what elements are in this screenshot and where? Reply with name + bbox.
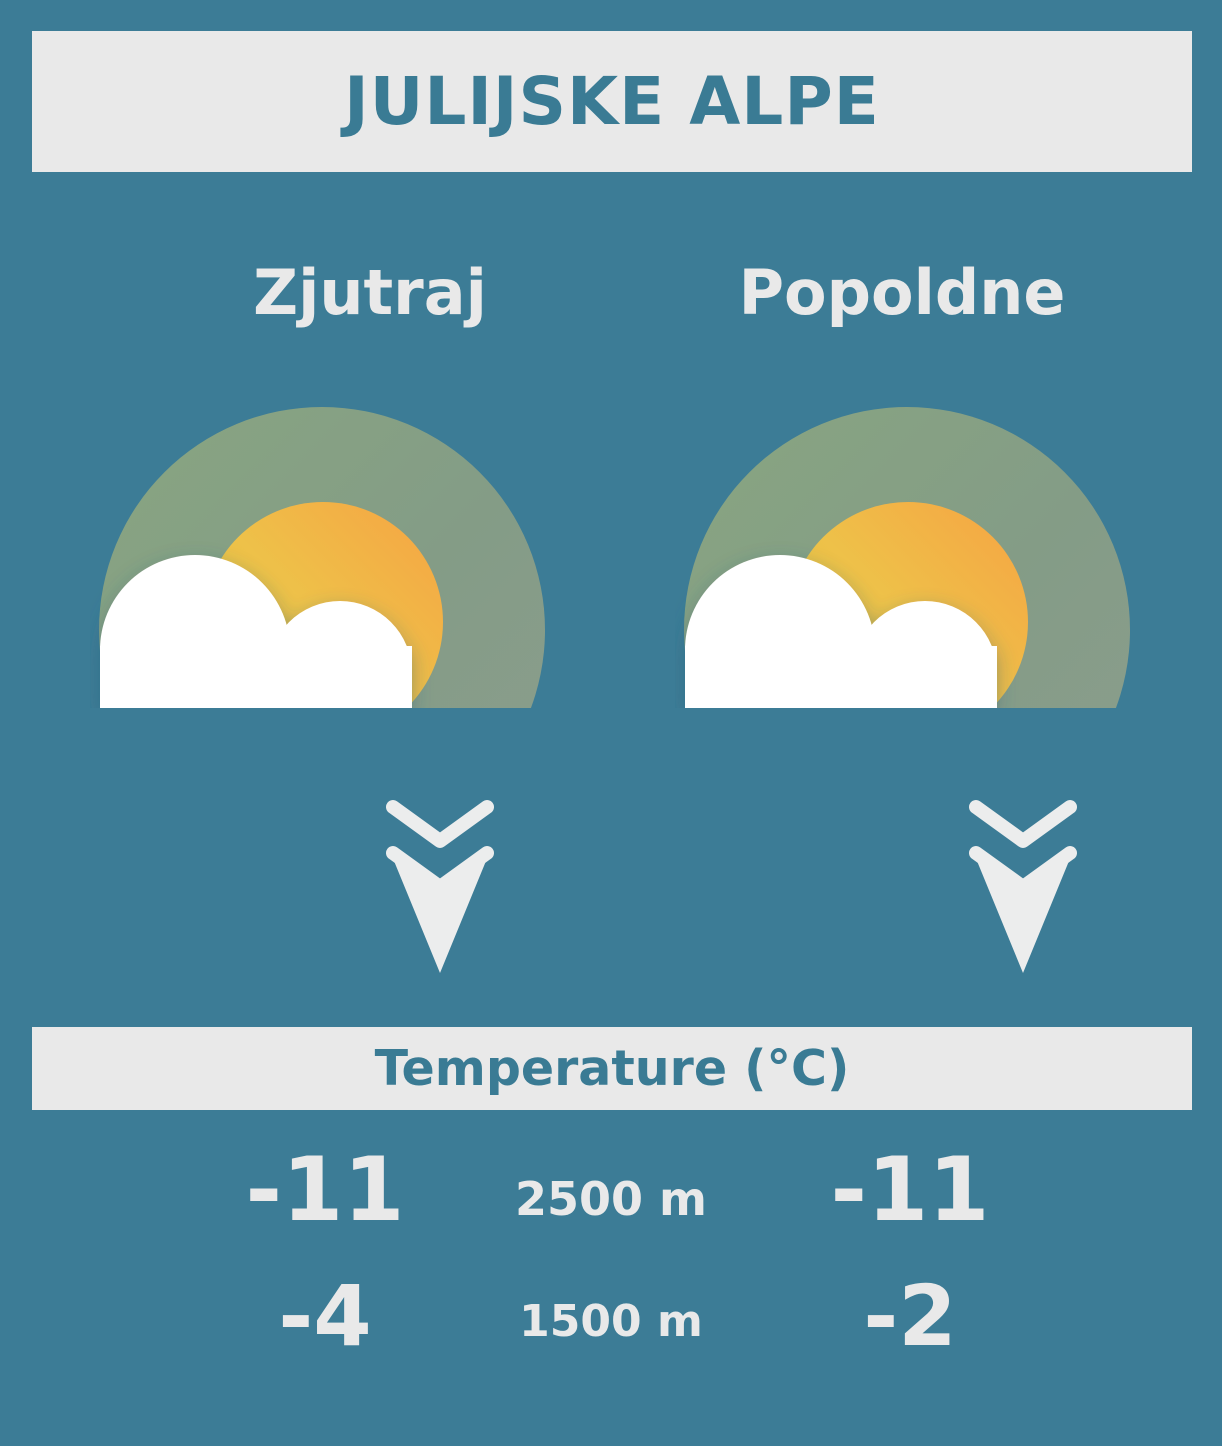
temperature-banner-label: Temperature (°C) <box>375 1044 850 1093</box>
temperature-table: -11 2500 m -11 -4 1500 m -2 <box>0 1140 1222 1404</box>
temperature-banner: Temperature (°C) <box>32 1027 1192 1110</box>
sun-behind-cloud-icon <box>90 400 550 725</box>
column-headings: Zjutraj Popoldne <box>0 262 1222 352</box>
column-heading-morning: Zjutraj <box>120 262 620 324</box>
temp-afternoon-1500: -2 <box>715 1274 1105 1358</box>
title-banner: JULIJSKE ALPE <box>32 31 1192 172</box>
table-row: -11 2500 m -11 <box>0 1140 1222 1272</box>
wind-arrow-down-icon <box>385 795 495 980</box>
table-row: -4 1500 m -2 <box>0 1272 1222 1404</box>
page-title: JULIJSKE ALPE <box>344 69 880 135</box>
temp-afternoon-2500: -11 <box>715 1146 1105 1234</box>
wind-arrow-down-icon <box>968 795 1078 980</box>
column-heading-afternoon: Popoldne <box>652 262 1152 324</box>
sun-behind-cloud-icon <box>675 400 1135 725</box>
